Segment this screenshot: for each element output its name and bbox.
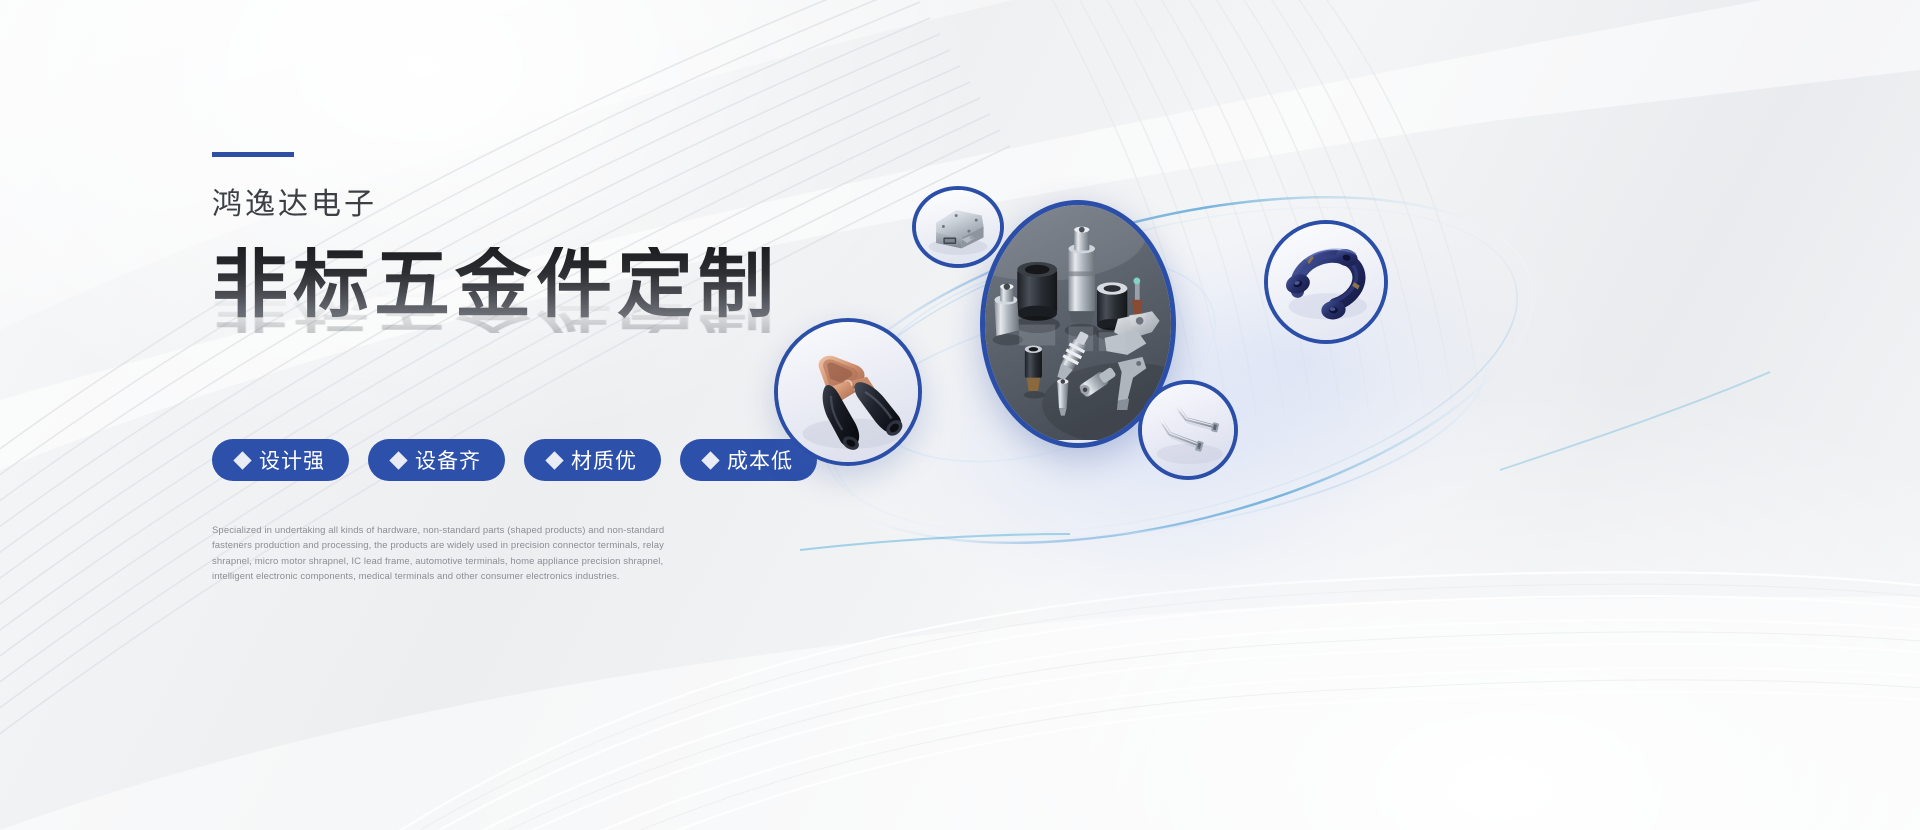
diamond-icon xyxy=(233,451,251,469)
feature-pill-material[interactable]: 材质优 xyxy=(524,439,661,481)
metal-enclosure-photo xyxy=(916,190,1000,265)
product-node-battery-clamp[interactable] xyxy=(774,318,922,466)
diamond-icon xyxy=(389,451,407,469)
diamond-icon xyxy=(701,451,719,469)
feature-pill-label: 材质优 xyxy=(571,445,637,475)
hero-banner: 鸿逸达电子 非标五金件定制 非标五金件定制 设计强 设备齐 材质优 成本低 xyxy=(0,0,1920,830)
bent-metal-pins-photo xyxy=(1142,384,1234,476)
feature-pill-label: 设备齐 xyxy=(415,445,481,475)
feature-pill-equipment[interactable]: 设备齐 xyxy=(368,439,505,481)
feature-pill-label: 设计强 xyxy=(259,445,325,475)
product-showcase xyxy=(740,110,1920,710)
accent-bar xyxy=(212,152,294,157)
feature-pill-design[interactable]: 设计强 xyxy=(212,439,349,481)
copper-battery-clamp-photo xyxy=(778,322,918,462)
diamond-icon xyxy=(545,451,563,469)
blue-retaining-ring-photo xyxy=(1268,224,1384,340)
product-node-bent-pins[interactable] xyxy=(1138,380,1238,480)
product-node-enclosure[interactable] xyxy=(912,186,1004,268)
product-node-retaining-ring[interactable] xyxy=(1264,220,1388,344)
description-paragraph: Specialized in undertaking all kinds of … xyxy=(212,523,674,585)
